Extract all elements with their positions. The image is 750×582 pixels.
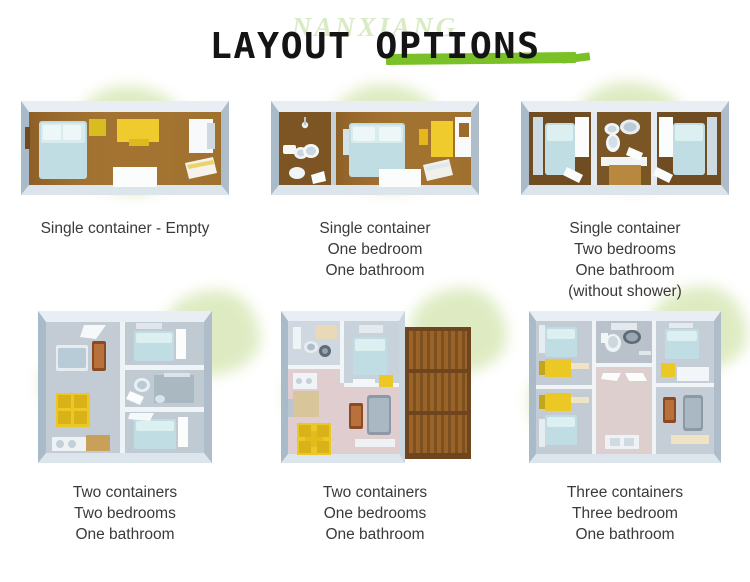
caption-line: Three bedroom	[567, 503, 683, 524]
layout-options-grid: Single container - Empty	[0, 92, 750, 545]
floorplan-single-container-one-bedroom[interactable]	[267, 95, 483, 201]
plan-area-3	[517, 92, 733, 204]
caption-line: One bedrooms	[323, 503, 427, 524]
layout-card-4[interactable]: Two containers Two bedrooms One bathroom	[0, 302, 250, 545]
caption-line: One bathroom	[568, 260, 682, 281]
floorplan-single-container-empty[interactable]	[17, 95, 233, 201]
layout-row-bottom: Two containers Two bedrooms One bathroom	[0, 302, 750, 545]
caption-line: One bathroom	[319, 260, 430, 281]
plan-area-6	[525, 302, 725, 472]
caption-line: One bathroom	[73, 524, 177, 545]
floorplan-single-container-two-bedrooms[interactable]	[517, 95, 733, 201]
caption-line: One bathroom	[567, 524, 683, 545]
caption-line: One bathroom	[323, 524, 427, 545]
floorplan-two-containers-one-bedroom-deck[interactable]	[277, 307, 473, 467]
layout-card-5[interactable]: Two containers One bedrooms One bathroom	[250, 302, 500, 545]
layout-caption-2: Single container One bedroom One bathroo…	[319, 204, 430, 281]
plan-area-1	[17, 92, 233, 204]
page-header: NANXIANG LAYOUT OPTIONS	[0, 0, 750, 92]
plan-area-5	[277, 302, 473, 472]
layout-card-6[interactable]: Three containers Three bedroom One bathr…	[500, 302, 750, 545]
caption-line: Three containers	[567, 482, 683, 503]
caption-line: Single container - Empty	[41, 218, 210, 239]
page-title-wrapper: LAYOUT OPTIONS	[0, 26, 750, 67]
layout-caption-3: Single container Two bedrooms One bathro…	[568, 204, 682, 302]
layout-card-1[interactable]: Single container - Empty	[0, 92, 250, 302]
plan-area-2	[267, 92, 483, 204]
plan-area-4	[34, 302, 216, 472]
layout-row-top: Single container - Empty	[0, 92, 750, 302]
caption-line: (without shower)	[568, 281, 682, 302]
page-title: LAYOUT OPTIONS	[210, 26, 541, 67]
floorplan-two-containers-two-bedrooms[interactable]	[34, 307, 216, 467]
caption-line: One bedroom	[319, 239, 430, 260]
layout-caption-6: Three containers Three bedroom One bathr…	[567, 472, 683, 545]
caption-line: Two containers	[73, 482, 177, 503]
caption-line: Two bedrooms	[73, 503, 177, 524]
layout-card-2[interactable]: Single container One bedroom One bathroo…	[250, 92, 500, 302]
floorplan-three-containers-three-bedrooms[interactable]	[525, 307, 725, 467]
layout-caption-4: Two containers Two bedrooms One bathroom	[73, 472, 177, 545]
layout-caption-1: Single container - Empty	[41, 204, 210, 239]
caption-line: Two bedrooms	[568, 239, 682, 260]
caption-line: Two containers	[323, 482, 427, 503]
caption-line: Single container	[319, 218, 430, 239]
layout-caption-5: Two containers One bedrooms One bathroom	[323, 472, 427, 545]
caption-line: Single container	[568, 218, 682, 239]
layout-card-3[interactable]: Single container Two bedrooms One bathro…	[500, 92, 750, 302]
